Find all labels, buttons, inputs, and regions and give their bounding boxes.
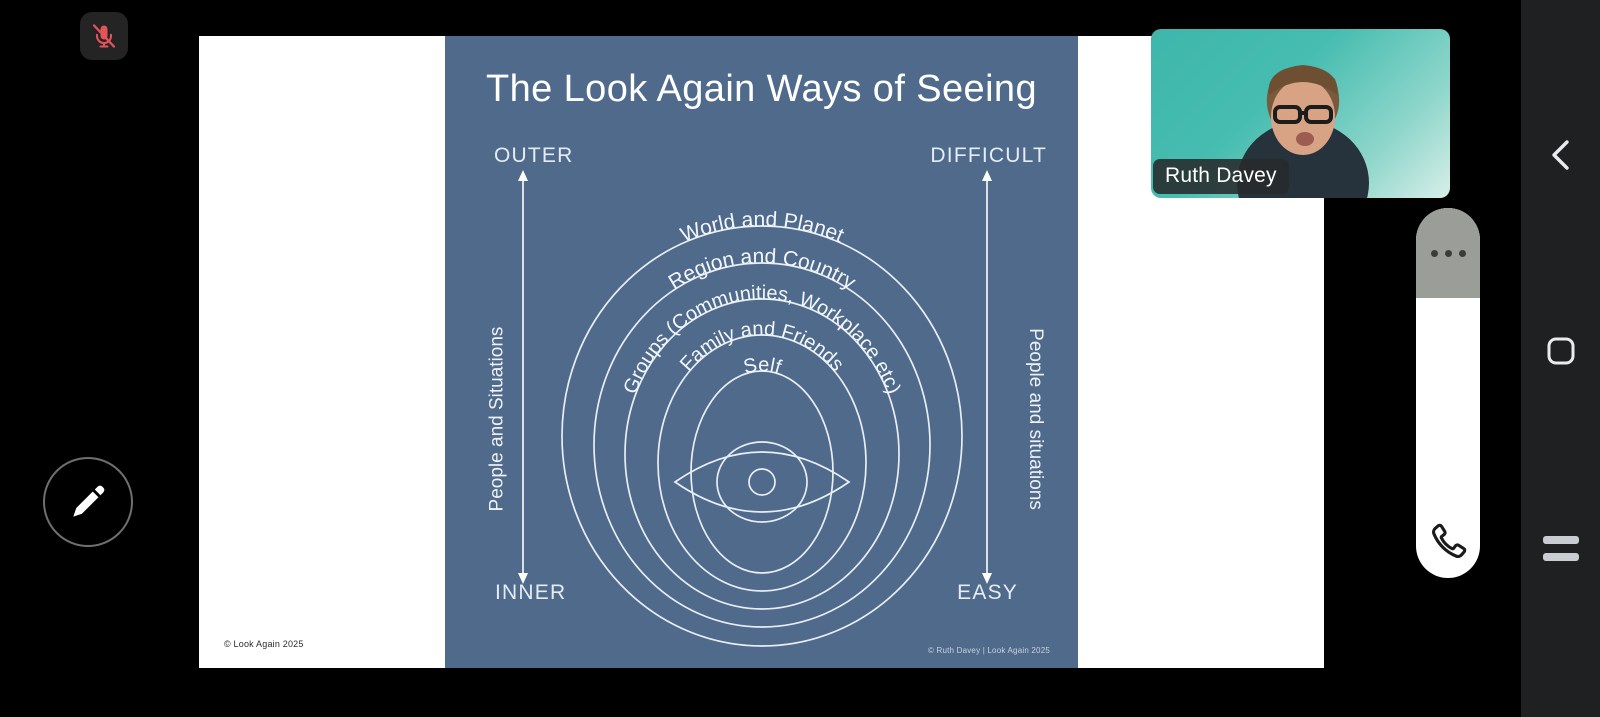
- diagram-copyright: © Ruth Davey | Look Again 2025: [928, 646, 1050, 655]
- eye-icon: [675, 442, 849, 522]
- recents-icon: [1543, 536, 1579, 561]
- hangup-button[interactable]: [1416, 520, 1480, 564]
- more-options-button[interactable]: [1416, 208, 1480, 298]
- phone-icon: [1426, 520, 1470, 564]
- android-nav-bar: [1521, 0, 1600, 717]
- pencil-icon: [66, 480, 110, 524]
- concentric-rings-svg: World and Planet Region and Country Grou…: [445, 36, 1078, 668]
- square-home-icon: [1545, 335, 1577, 367]
- more-options-icon: [1459, 250, 1466, 257]
- call-controls-pill[interactable]: [1416, 208, 1480, 578]
- annotate-button[interactable]: [43, 457, 133, 547]
- chevron-left-icon: [1548, 138, 1574, 172]
- mic-mute-button[interactable]: [80, 12, 128, 60]
- screen-root: © Look Again 2025 The Look Again Ways of…: [0, 0, 1600, 717]
- microphone-muted-icon: [90, 22, 118, 50]
- ways-of-seeing-diagram: The Look Again Ways of Seeing OUTER INNE…: [445, 36, 1078, 668]
- ring-label-self: Self: [742, 354, 785, 379]
- ring-label-world: World and Planet: [677, 208, 847, 247]
- nav-home-button[interactable]: [1521, 316, 1600, 386]
- nav-back-button[interactable]: [1521, 120, 1600, 190]
- more-options-icon: [1445, 250, 1452, 257]
- slide-copyright-left: © Look Again 2025: [224, 639, 304, 649]
- nav-recents-button[interactable]: [1521, 513, 1600, 583]
- participant-name-badge: Ruth Davey: [1153, 159, 1289, 194]
- more-options-icon: [1431, 250, 1438, 257]
